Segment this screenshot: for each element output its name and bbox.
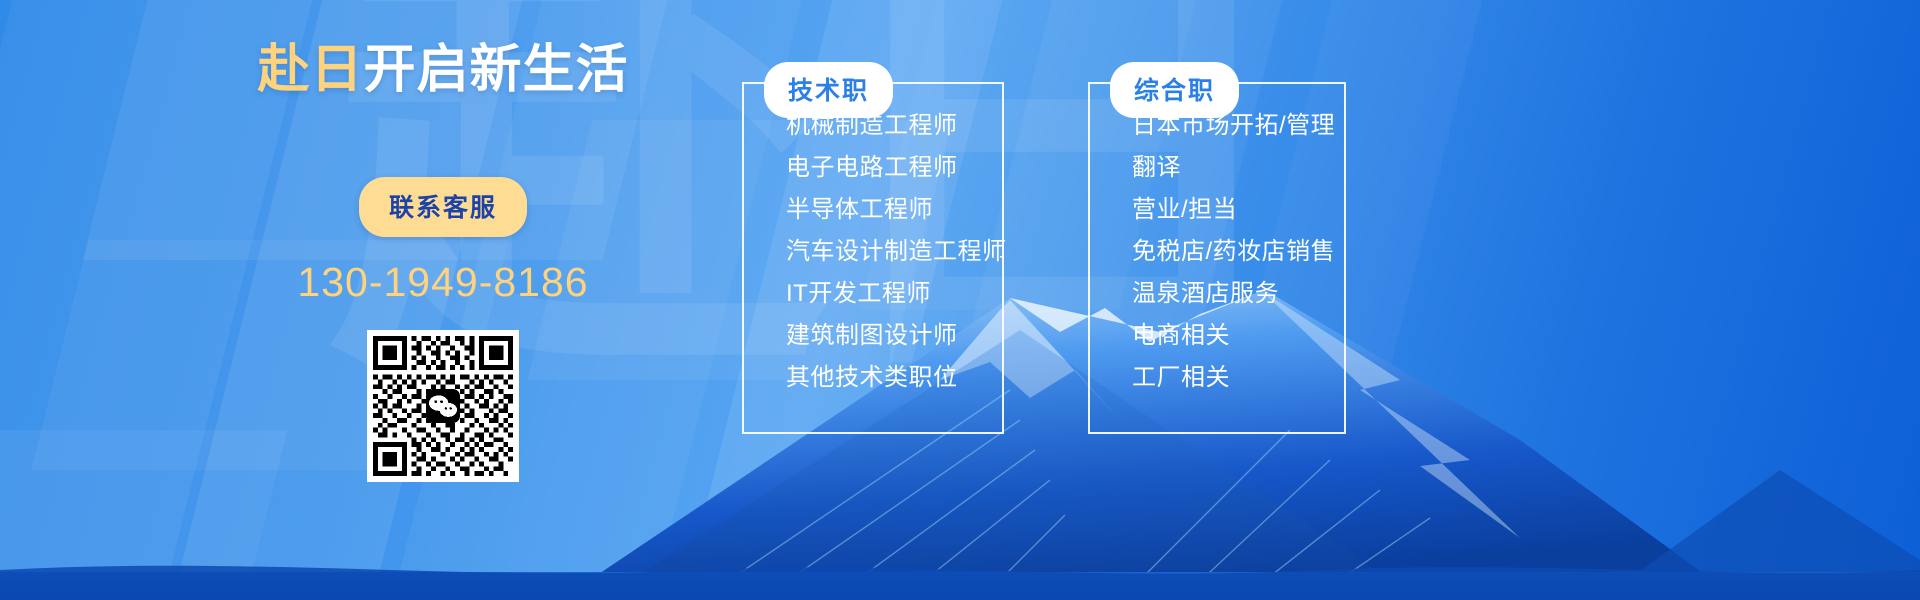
phone-number[interactable]: 130-1949-8186 (228, 259, 658, 306)
category-badge-general[interactable]: 综合职 (1110, 62, 1239, 118)
category-card-tech: 技术职 机械制造工程师 电子电路工程师 半导体工程师 汽车设计制造工程师 IT开… (742, 62, 1004, 408)
list-item[interactable]: 电子电路工程师 (786, 156, 1004, 180)
list-item[interactable]: 其他技术类职位 (786, 366, 1004, 390)
list-item[interactable]: IT开发工程师 (786, 282, 1004, 306)
list-item[interactable]: 营业/担当 (1132, 198, 1346, 222)
category-card-general: 综合职 日本市场开拓/管理 翻译 营业/担当 免税店/药妆店销售 温泉酒店服务 … (1088, 62, 1346, 408)
contact-support-button[interactable]: 联系客服 (359, 177, 527, 237)
category-badge-tech[interactable]: 技术职 (764, 62, 893, 118)
wechat-icon (426, 389, 460, 423)
list-item[interactable]: 建筑制图设计师 (786, 324, 1004, 348)
qr-code-image (373, 336, 513, 476)
list-item[interactable]: 工厂相关 (1132, 366, 1346, 390)
list-item[interactable]: 电商相关 (1132, 324, 1346, 348)
page-title: 赴日开启新生活 (228, 42, 658, 99)
promo-banner: 赴日 (0, 0, 1920, 600)
list-item[interactable]: 温泉酒店服务 (1132, 282, 1346, 306)
list-item[interactable]: 汽车设计制造工程师 (786, 240, 1004, 264)
headline-highlight: 赴日 (257, 41, 363, 99)
list-item[interactable]: 半导体工程师 (786, 198, 1004, 222)
left-content: 赴日开启新生活 联系客服 130-1949-8186 (228, 42, 658, 482)
wechat-qr-code[interactable] (367, 330, 519, 482)
headline-rest: 开启新生活 (364, 41, 629, 99)
list-item[interactable]: 翻译 (1132, 156, 1346, 180)
list-item[interactable]: 免税店/药妆店销售 (1132, 240, 1346, 264)
